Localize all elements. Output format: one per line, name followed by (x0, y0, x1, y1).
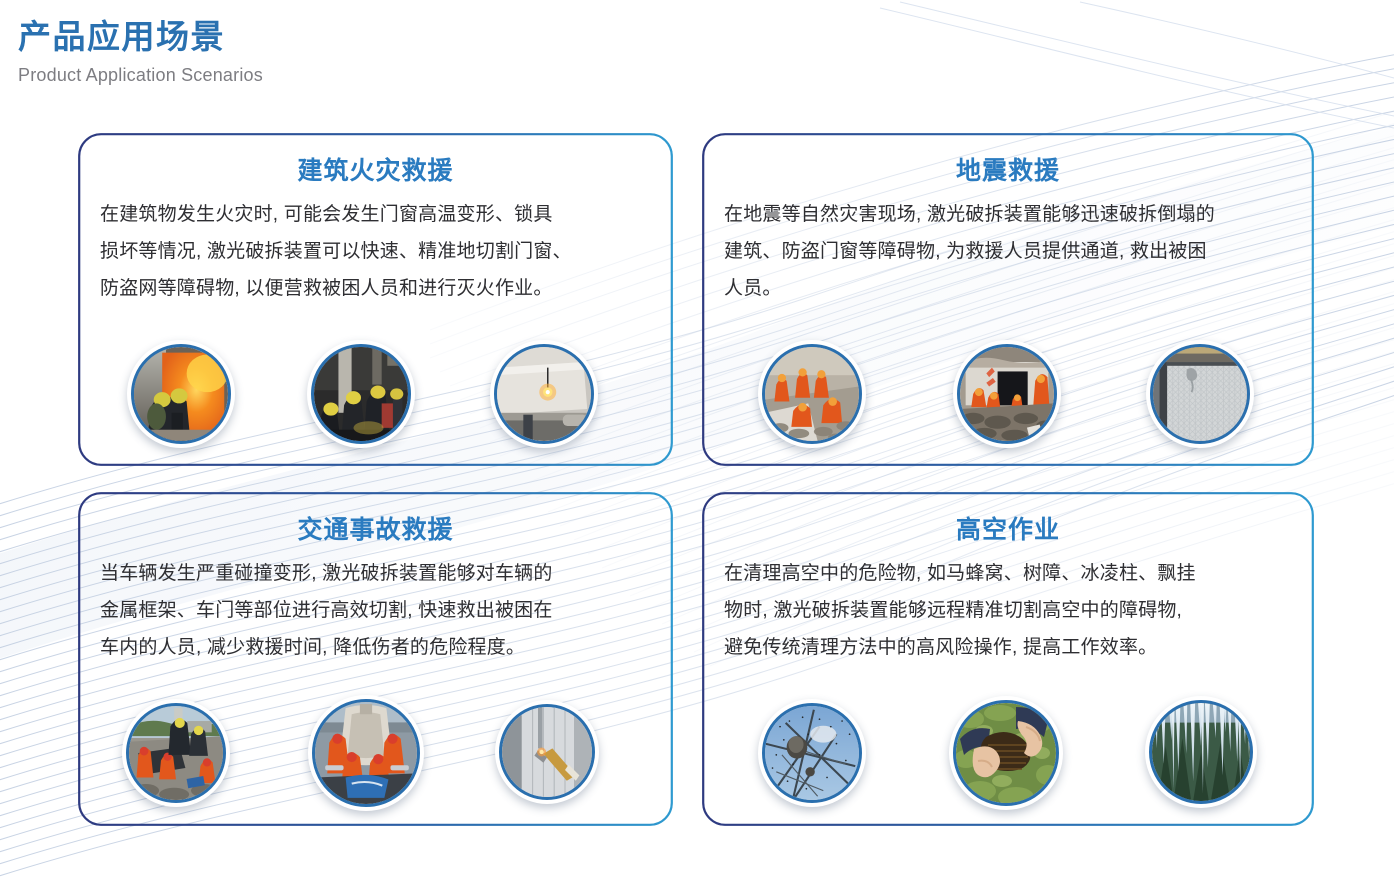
scenario-photo-firefighters-spraying-flames[interactable] (127, 340, 235, 448)
shattered-security-window-image (1153, 347, 1247, 441)
card-body: 在地震等自然灾害现场, 激光破拆装置能够迅速破拆倒塌的 建筑、防盗门窗等障碍物,… (724, 196, 1296, 307)
card-body-line: 金属框架、车门等部位进行高效切割, 快速救出被困在 (100, 592, 652, 629)
scenario-photo-collapsed-building-search[interactable] (953, 340, 1061, 448)
scenario-photo-laser-cutting-metal-pole[interactable] (495, 700, 599, 804)
page-header: 产品应用场景 Product Application Scenarios (18, 16, 263, 88)
card-body-line: 防盗网等障碍物, 以便营救被困人员和进行灭火作业。 (100, 270, 652, 307)
photo-ring (762, 344, 862, 444)
card-body-line: 在地震等自然灾害现场, 激光破拆装置能够迅速破拆倒塌的 (724, 196, 1296, 233)
photo-ring (953, 700, 1059, 806)
scenario-photo-rescuers-on-rubble[interactable] (758, 340, 866, 448)
card-body-line: 损坏等情况, 激光破拆装置可以快速、精准地切割门窗、 (100, 233, 652, 270)
card-body-line: 建筑、防盗门窗等障碍物, 为救援人员提供通道, 救出被困 (724, 233, 1296, 270)
photo-ring (1150, 344, 1250, 444)
firefighters-in-burning-building-image (314, 347, 408, 441)
wasp-nest-on-power-pylon-image (765, 706, 859, 800)
scenario-card-earthquake-rescue[interactable]: 地震救援 在地震等自然灾害现场, 激光破拆装置能够迅速破拆倒塌的 建筑、防盗门窗… (702, 133, 1314, 466)
scenario-photo-opened-car-hood-rescue[interactable] (308, 695, 424, 811)
roadside-vehicle-extrication-image (129, 706, 223, 800)
photo-ring (494, 344, 594, 444)
scenario-photo-shattered-security-window[interactable] (1146, 340, 1254, 448)
card-body-line: 在清理高空中的危险物, 如马蜂窝、树障、冰凌柱、飘挂 (724, 555, 1296, 592)
card-body-line: 当车辆发生严重碰撞变形, 激光破拆装置能够对车辆的 (100, 555, 652, 592)
page-title: 产品应用场景 (18, 16, 263, 58)
opened-car-hood-rescue-image (315, 702, 417, 804)
card-body-line: 人员。 (724, 270, 1296, 307)
card-body-line: 车内的人员, 减少救援时间, 降低伤者的危险程度。 (100, 629, 652, 666)
photo-ring (499, 704, 595, 800)
firefighters-spraying-flames-image (134, 347, 228, 441)
card-title: 地震救援 (702, 151, 1314, 187)
card-body: 当车辆发生严重碰撞变形, 激光破拆装置能够对车辆的 金属框架、车门等部位进行高效… (100, 555, 652, 666)
photo-ring (312, 699, 420, 807)
scenario-photo-icicles-on-trees[interactable] (1145, 696, 1257, 808)
scenario-photo-roadside-vehicle-extrication[interactable] (122, 699, 230, 807)
card-body-line: 避免传统清理方法中的高风险操作, 提高工作效率。 (724, 629, 1296, 666)
scenario-photo-firefighters-in-burning-building[interactable] (307, 340, 415, 448)
rescuers-on-rubble-image (765, 347, 859, 441)
card-body-line: 物时, 激光破拆装置能够远程精准切割高空中的障碍物, (724, 592, 1296, 629)
scenario-card-high-altitude-operations[interactable]: 高空作业 在清理高空中的危险物, 如马蜂窝、树障、冰凌柱、飘挂 物时, 激光破拆… (702, 492, 1314, 826)
scenario-card-building-fire-rescue[interactable]: 建筑火灾救援 在建筑物发生火灾时, 可能会发生门窗高温变形、锁具 损坏等情况, … (78, 133, 673, 466)
photo-ring (762, 703, 862, 803)
card-body: 在建筑物发生火灾时, 可能会发生门窗高温变形、锁具 损坏等情况, 激光破拆装置可… (100, 196, 652, 307)
page-subtitle: Product Application Scenarios (18, 62, 263, 88)
card-body-line: 在建筑物发生火灾时, 可能会发生门窗高温变形、锁具 (100, 196, 652, 233)
collapsed-building-search-image (960, 347, 1054, 441)
laser-cutting-concrete-block-image (497, 347, 591, 441)
application-scenarios-page: 产品应用场景 Product Application Scenarios 建筑火… (0, 0, 1394, 881)
card-body: 在清理高空中的危险物, 如马蜂窝、树障、冰凌柱、飘挂 物时, 激光破拆装置能够远… (724, 555, 1296, 666)
scenario-photo-wasp-nest-on-power-pylon[interactable] (758, 699, 866, 807)
scenario-photo-laser-cutting-concrete-block[interactable] (490, 340, 598, 448)
card-title: 高空作业 (702, 510, 1314, 546)
card-title: 建筑火灾救援 (78, 151, 673, 187)
card-title: 交通事故救援 (78, 510, 673, 546)
photo-ring (1149, 700, 1253, 804)
scenario-photo-hands-holding-honeycomb[interactable] (949, 696, 1063, 810)
photo-ring (957, 344, 1057, 444)
icicles-on-trees-image (1152, 703, 1250, 801)
laser-cutting-metal-pole-image (502, 707, 592, 797)
photo-ring (131, 344, 231, 444)
photo-ring (311, 344, 411, 444)
photo-ring (126, 703, 226, 803)
hands-holding-honeycomb-image (956, 703, 1056, 803)
scenario-card-traffic-accident-rescue[interactable]: 交通事故救援 当车辆发生严重碰撞变形, 激光破拆装置能够对车辆的 金属框架、车门… (78, 492, 673, 826)
